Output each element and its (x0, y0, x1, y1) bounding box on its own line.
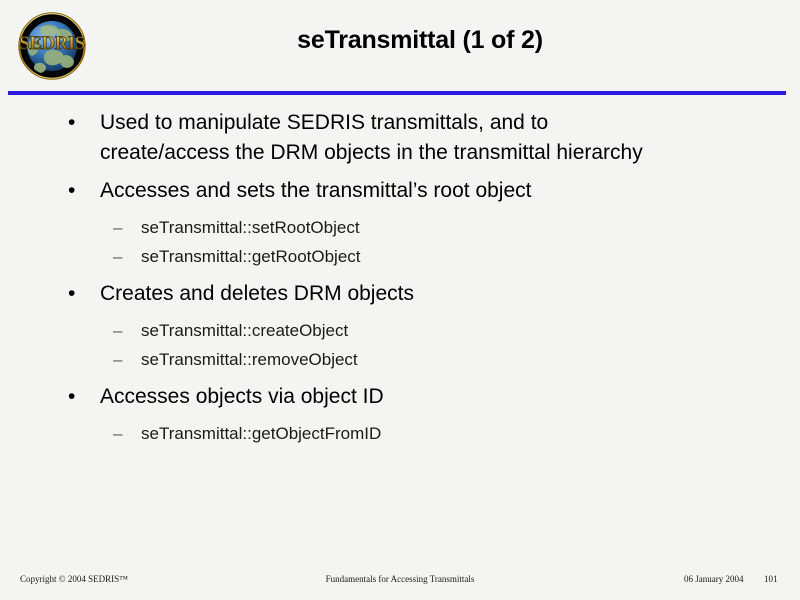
title-divider (8, 91, 786, 95)
sub-bullet-item: – seTransmittal::removeObject (0, 346, 800, 374)
bullet-marker-dash: – (113, 346, 141, 374)
sub-bullet-text: seTransmittal::getObjectFromID (141, 420, 381, 448)
bullet-item: • Accesses and sets the transmittal’s ro… (0, 176, 800, 206)
page-title: seTransmittal (1 of 2) (120, 26, 720, 55)
sub-bullet-item: – seTransmittal::setRootObject (0, 214, 800, 242)
sub-bullet-text: seTransmittal::removeObject (141, 346, 358, 374)
bullet-text: Creates and deletes DRM objects (100, 279, 414, 309)
slide-body: • Used to manipulate SEDRIS transmittals… (0, 108, 800, 449)
bullet-marker-dot: • (68, 108, 100, 138)
bullet-marker-dot: • (68, 279, 100, 309)
bullet-item: • Used to manipulate SEDRIS transmittals… (0, 108, 800, 168)
bullet-marker-dash: – (113, 214, 141, 242)
slide-footer: Copyright © 2004 SEDRIS™ Fundamentals fo… (0, 570, 800, 592)
footer-page-number: 101 (764, 574, 778, 584)
sub-bullet-text: seTransmittal::setRootObject (141, 214, 360, 242)
sub-bullet-text: seTransmittal::createObject (141, 317, 348, 345)
slide-header: SEDRIS seTransmittal (1 of 2) (0, 0, 800, 92)
svg-text:SEDRIS: SEDRIS (19, 33, 85, 54)
bullet-text: Used to manipulate SEDRIS transmittals, … (100, 108, 680, 168)
bullet-marker-dot: • (68, 382, 100, 412)
bullet-marker-dash: – (113, 420, 141, 448)
footer-date: 06 January 2004 (684, 574, 744, 584)
sub-bullet-text: seTransmittal::getRootObject (141, 243, 361, 271)
sub-bullet-item: – seTransmittal::createObject (0, 317, 800, 345)
footer-course-title: Fundamentals for Accessing Transmittals (0, 574, 800, 584)
sub-bullet-item: – seTransmittal::getObjectFromID (0, 420, 800, 448)
bullet-text: Accesses and sets the transmittal’s root… (100, 176, 531, 206)
bullet-marker-dash: – (113, 243, 141, 271)
bullet-marker-dot: • (68, 176, 100, 206)
bullet-text: Accesses objects via object ID (100, 382, 384, 412)
bullet-item: • Creates and deletes DRM objects (0, 279, 800, 309)
sedris-logo-icon: SEDRIS (11, 11, 93, 81)
slide-canvas: SEDRIS seTransmittal (1 of 2) • Used to … (0, 0, 800, 600)
sub-bullet-item: – seTransmittal::getRootObject (0, 243, 800, 271)
bullet-marker-dash: – (113, 317, 141, 345)
bullet-item: • Accesses objects via object ID (0, 382, 800, 412)
